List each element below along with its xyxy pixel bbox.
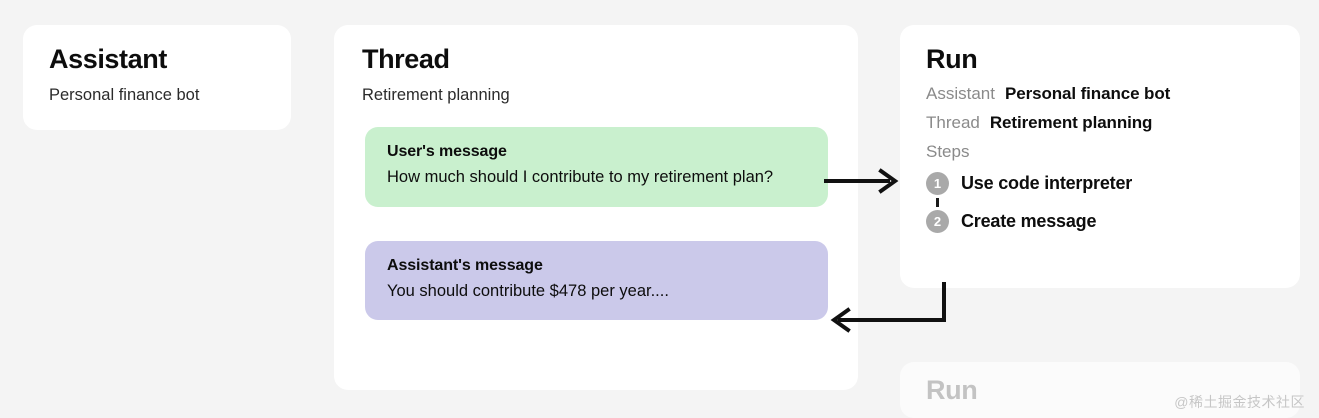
run-assistant-row: Assistant Personal finance bot <box>926 84 1274 104</box>
run-steps-label: Steps <box>926 142 1274 162</box>
assistant-card-subtitle: Personal finance bot <box>49 86 265 106</box>
step-number-badge: 1 <box>926 172 949 195</box>
step-connector-line <box>926 195 949 210</box>
message-bubble-assistant-label: Assistant's message <box>387 256 808 276</box>
run-thread-value: Retirement planning <box>990 113 1152 133</box>
step-label: Create message <box>961 211 1096 232</box>
watermark: @稀土掘金技术社区 <box>1174 392 1305 412</box>
run-step-item: 1 Use code interpreter <box>926 172 1274 195</box>
step-number-badge: 2 <box>926 210 949 233</box>
run-assistant-value: Personal finance bot <box>1005 84 1170 104</box>
run-card-title: Run <box>926 45 1274 75</box>
run-step-item: 2 Create message <box>926 210 1274 233</box>
message-bubble-assistant: Assistant's message You should contribut… <box>365 241 828 320</box>
message-bubble-user-label: User's message <box>387 142 808 162</box>
thread-card: Thread Retirement planning User's messag… <box>334 25 858 390</box>
run-assistant-key: Assistant <box>926 84 995 104</box>
diagram-canvas: Assistant Personal finance bot Thread Re… <box>0 0 1319 418</box>
thread-message-list: User's message How much should I contrib… <box>362 127 830 320</box>
assistant-card: Assistant Personal finance bot <box>23 25 291 130</box>
message-bubble-assistant-text: You should contribute $478 per year.... <box>387 280 808 303</box>
run-card: Run Assistant Personal finance bot Threa… <box>900 25 1300 288</box>
thread-card-subtitle: Retirement planning <box>362 86 830 106</box>
message-bubble-user: User's message How much should I contrib… <box>365 127 828 206</box>
thread-card-title: Thread <box>362 45 830 75</box>
run-thread-row: Thread Retirement planning <box>926 113 1274 133</box>
assistant-card-title: Assistant <box>49 45 265 75</box>
run-steps-list: 1 Use code interpreter 2 Create message <box>926 172 1274 233</box>
run-thread-key: Thread <box>926 113 980 133</box>
message-bubble-user-text: How much should I contribute to my retir… <box>387 166 808 189</box>
step-label: Use code interpreter <box>961 173 1132 194</box>
